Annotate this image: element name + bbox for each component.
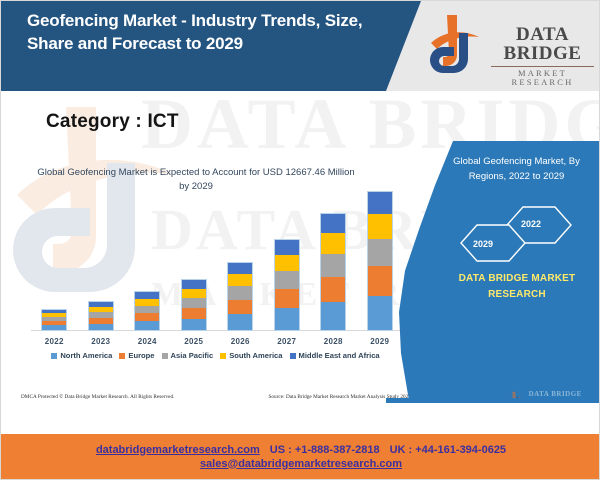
bar-segment xyxy=(321,277,345,302)
x-axis-label: 2029 xyxy=(360,337,400,346)
stacked-bar[interactable] xyxy=(320,213,346,331)
stacked-bar[interactable] xyxy=(181,279,207,331)
legend-label: Asia Pacific xyxy=(171,351,214,360)
hex-label-2022: 2022 xyxy=(521,219,541,229)
x-axis-label: 2025 xyxy=(174,337,214,346)
footer-accent-bar xyxy=(386,398,600,403)
brand-logo-line1: DATA BRIDGE xyxy=(491,25,594,63)
brand-logo-text: DATA BRIDGE MARKET RESEARCH xyxy=(491,25,594,86)
bar-segment xyxy=(182,289,206,298)
bar-segment xyxy=(228,314,252,330)
legend-label: Europe xyxy=(128,351,154,360)
bar-segment xyxy=(321,214,345,233)
legend-item[interactable]: Asia Pacific xyxy=(162,351,214,360)
chart-legend: North AmericaEuropeAsia PacificSouth Ame… xyxy=(23,351,408,360)
bar-segment xyxy=(275,240,299,255)
legend-item[interactable]: South America xyxy=(220,351,282,360)
x-axis-label: 2024 xyxy=(127,337,167,346)
bar-segment xyxy=(182,319,206,330)
bar-segment xyxy=(321,233,345,254)
regions-highlight-panel: Global Geofencing Market, By Regions, 20… xyxy=(399,141,600,436)
footer-us-phone: US : +1-888-387-2818 xyxy=(270,444,380,456)
stacked-bar[interactable] xyxy=(41,309,67,332)
page-body: DATA BRIDGE DATA BRIDGE MARKET RESEARCH … xyxy=(1,91,600,436)
bar-segment xyxy=(275,308,299,330)
legend-label: South America xyxy=(229,351,282,360)
bar-segment xyxy=(228,274,252,286)
bar-segment xyxy=(135,313,159,321)
data-bridge-mark-icon xyxy=(429,13,491,79)
hexagon-shapes-icon xyxy=(451,203,591,265)
bar-segment xyxy=(321,254,345,277)
legend-label: North America xyxy=(60,351,112,360)
stacked-bar[interactable] xyxy=(88,301,114,331)
page-title: Geofencing Market - Industry Trends, Siz… xyxy=(27,10,367,56)
footer-website-link[interactable]: databridgemarketresearch.com xyxy=(96,444,260,456)
bar-segment xyxy=(368,266,392,296)
bar-segment xyxy=(89,324,113,330)
bar-segment xyxy=(275,271,299,289)
bar-segment xyxy=(182,280,206,289)
bar-segment xyxy=(228,263,252,274)
footer-email-row: sales@databridgemarketresearch.com xyxy=(200,458,402,470)
panel-title: Global Geofencing Market, By Regions, 20… xyxy=(439,155,594,184)
hex-label-2029: 2029 xyxy=(473,239,493,249)
bar-segment xyxy=(135,292,159,299)
footer-email-link[interactable]: sales@databridgemarketresearch.com xyxy=(200,458,402,470)
bar-segment xyxy=(182,308,206,319)
bar-segment xyxy=(182,298,206,308)
chart-plot-area: 20222023202420252026202720282029 xyxy=(31,203,403,349)
x-axis-label: 2027 xyxy=(267,337,307,346)
stacked-bar[interactable] xyxy=(134,291,160,331)
bar-segment xyxy=(275,255,299,271)
report-infographic-page: Geofencing Market - Industry Trends, Siz… xyxy=(0,0,600,480)
footer-spacer xyxy=(1,399,600,434)
legend-swatch xyxy=(162,353,168,359)
bar-segment xyxy=(321,302,345,330)
legend-swatch xyxy=(119,353,125,359)
footer-uk-phone: UK : +44-161-394-0625 xyxy=(390,444,507,456)
legend-item[interactable]: Europe xyxy=(119,351,154,360)
bar-segment xyxy=(368,214,392,239)
legend-label: Middle East and Africa xyxy=(299,351,380,360)
x-axis-label: 2026 xyxy=(220,337,260,346)
page-header: Geofencing Market - Industry Trends, Siz… xyxy=(1,1,600,91)
bar-segment xyxy=(135,299,159,306)
brand-logo-line2: MARKET RESEARCH xyxy=(491,69,594,86)
bar-segment xyxy=(368,296,392,330)
legend-swatch xyxy=(51,353,57,359)
legend-item[interactable]: Middle East and Africa xyxy=(290,351,380,360)
stacked-bar[interactable] xyxy=(227,262,253,332)
bar-segment xyxy=(368,192,392,214)
footer-contact-row: databridgemarketresearch.com US : +1-888… xyxy=(96,444,506,456)
bar-segment xyxy=(228,300,252,315)
hexagon-year-badges: 2029 2022 xyxy=(451,203,591,265)
stacked-bar[interactable] xyxy=(274,239,300,331)
legend-swatch xyxy=(290,353,296,359)
regions-stacked-bar-chart: 20222023202420252026202720282029 North A… xyxy=(23,203,408,371)
x-axis-label: 2022 xyxy=(34,337,74,346)
chart-caption: Global Geofencing Market is Expected to … xyxy=(36,166,356,195)
bar-segment xyxy=(42,325,66,330)
bar-segment xyxy=(135,306,159,314)
category-label: Category : ICT xyxy=(46,111,179,133)
stacked-bar[interactable] xyxy=(367,191,393,331)
brand-logo: DATA BRIDGE MARKET RESEARCH xyxy=(429,11,594,81)
bar-segment xyxy=(135,321,159,330)
legend-swatch xyxy=(220,353,226,359)
page-footer: databridgemarketresearch.com US : +1-888… xyxy=(1,434,600,479)
legend-item[interactable]: North America xyxy=(51,351,112,360)
bar-segment xyxy=(275,289,299,309)
x-axis-label: 2023 xyxy=(81,337,121,346)
bar-segment xyxy=(368,239,392,266)
bar-segment xyxy=(228,286,252,299)
panel-brand-text: DATA BRIDGE MARKET RESEARCH xyxy=(441,271,593,303)
brand-logo-divider xyxy=(491,66,594,67)
x-axis-label: 2028 xyxy=(313,337,353,346)
